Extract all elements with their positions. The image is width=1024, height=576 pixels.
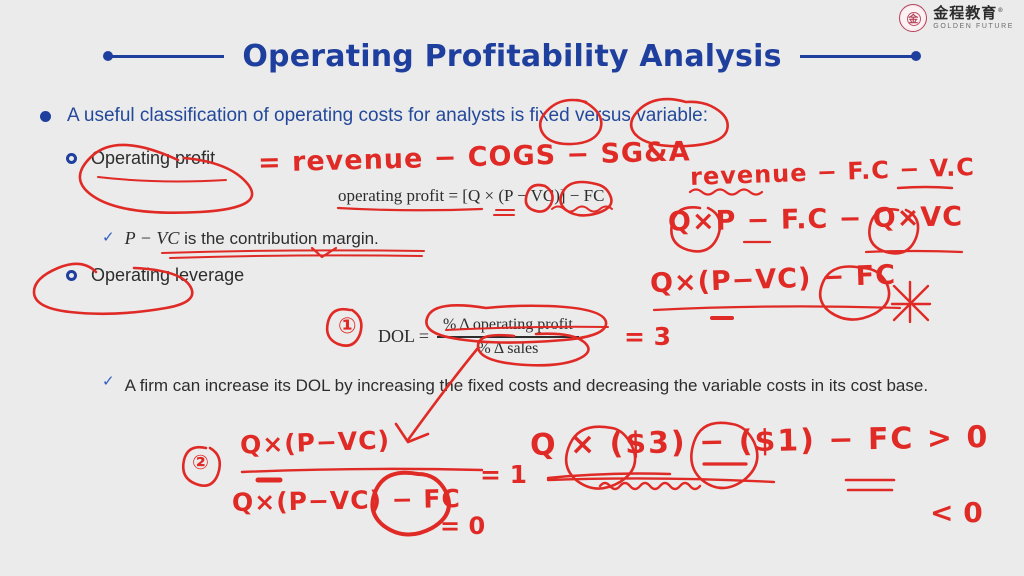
formula-dol: DOL = % Δ operating profit % Δ sales [378, 316, 579, 358]
ink-underline-formula-lhs [338, 208, 482, 210]
ink-wavy-underline-bottom [548, 474, 700, 490]
firm-dol-text: A firm can increase its DOL by increasin… [125, 372, 928, 400]
ink-fraction-bar [242, 469, 482, 472]
ink-tail-operating-leverage [170, 255, 422, 258]
sub-bullet-operating-leverage: Operating leverage [66, 265, 244, 286]
ink-equals-one: = 1 [480, 460, 527, 489]
ink-squiggle-vc [552, 207, 612, 212]
ink-underline-line3 [654, 306, 900, 310]
ink-fraction-numerator: Q×(P−VC) [240, 425, 391, 459]
ink-marker-two: ② [192, 450, 209, 474]
ink-marker-one: ① [338, 314, 357, 339]
ink-fraction-denominator: Q×(P−VC) − FC [232, 484, 461, 517]
checkmark-icon: ✓ [102, 230, 115, 247]
ink-underline-bottom-long [548, 478, 774, 482]
dol-denominator: % Δ sales [471, 338, 544, 358]
title-dot-right-icon [911, 51, 921, 61]
contribution-margin-rest: is the contribution margin. [179, 229, 378, 248]
ink-underline-operating-profit [98, 177, 226, 181]
checkmark-icon: ✓ [102, 374, 115, 391]
logo-registered-mark: ® [997, 7, 1004, 14]
title-decoration-right [800, 51, 921, 61]
bullet-classification-text: A useful classification of operating cos… [67, 104, 708, 129]
note-contribution-margin: ✓ P − VC is the contribution margin. [102, 228, 379, 249]
ink-double-underline-fc [846, 480, 894, 490]
ink-equals-zero: = 0 [440, 512, 485, 540]
dol-numerator: % Δ operating profit [437, 316, 579, 336]
note-firm-dol: ✓ A firm can increase its DOL by increas… [102, 372, 982, 400]
ink-underline-qvc [866, 251, 962, 252]
ink-bottom-line-1: Q × ($3) − ($1) − FC > 0 [530, 420, 990, 463]
dol-fraction: % Δ operating profit % Δ sales [437, 316, 579, 358]
slide-canvas: 金 金程教育® GOLDEN FUTURE Operating Profitab… [0, 0, 1024, 576]
logo-name-en: GOLDEN FUTURE [933, 23, 1014, 30]
page-title: Operating Profitability Analysis [224, 39, 799, 74]
contribution-margin-term: P − VC [125, 228, 180, 248]
ink-underline-contribution-margin [162, 250, 424, 253]
brand-logo: 金 金程教育® GOLDEN FUTURE [899, 4, 1014, 32]
ink-right-line-1: revenue − F.C − V.C [690, 153, 976, 191]
sub-bullet-operating-profit: Operating profit [66, 148, 215, 169]
ink-arrowhead-to-fraction [396, 424, 428, 442]
logo-text: 金程教育® GOLDEN FUTURE [933, 6, 1014, 30]
logo-seal-icon: 金 [899, 4, 927, 32]
ink-double-equals-mark [494, 210, 514, 215]
title-bar-right-icon [800, 55, 912, 58]
dol-label: DOL = [378, 326, 429, 347]
title-bar-left-icon [112, 55, 224, 58]
formula-operating-profit: operating profit = [Q × (P − VC)] − FC [338, 186, 604, 206]
ink-bottom-line-2: < 0 [930, 496, 983, 529]
logo-seal-glyph: 金 [900, 11, 926, 26]
bullet-item-classification: A useful classification of operating cos… [40, 104, 840, 129]
sub-bullet-operating-profit-label: Operating profit [91, 148, 215, 169]
ink-right-line-3: Q×(P−VC) − FC [650, 260, 897, 300]
ink-right-line-2: Q×P − F.C − Q×VC [668, 201, 964, 237]
slide-title-row: Operating Profitability Analysis [0, 36, 1024, 76]
logo-name-cn: 金程教育® [933, 6, 1014, 21]
bullet-ring-icon [66, 153, 77, 164]
sub-bullet-operating-leverage-label: Operating leverage [91, 265, 244, 286]
bullet-disc-icon [40, 111, 51, 122]
ink-equals-three: = 3 [624, 322, 671, 351]
bullet-ring-icon [66, 270, 77, 281]
ink-star-mark [892, 282, 930, 322]
title-decoration-left [103, 51, 224, 61]
ink-revenue-equation: = revenue − COGS − SG&A [258, 136, 691, 178]
ink-check-contribution [312, 248, 336, 257]
contribution-margin-text: P − VC is the contribution margin. [125, 228, 379, 249]
ink-underline-vc-right [898, 187, 952, 188]
